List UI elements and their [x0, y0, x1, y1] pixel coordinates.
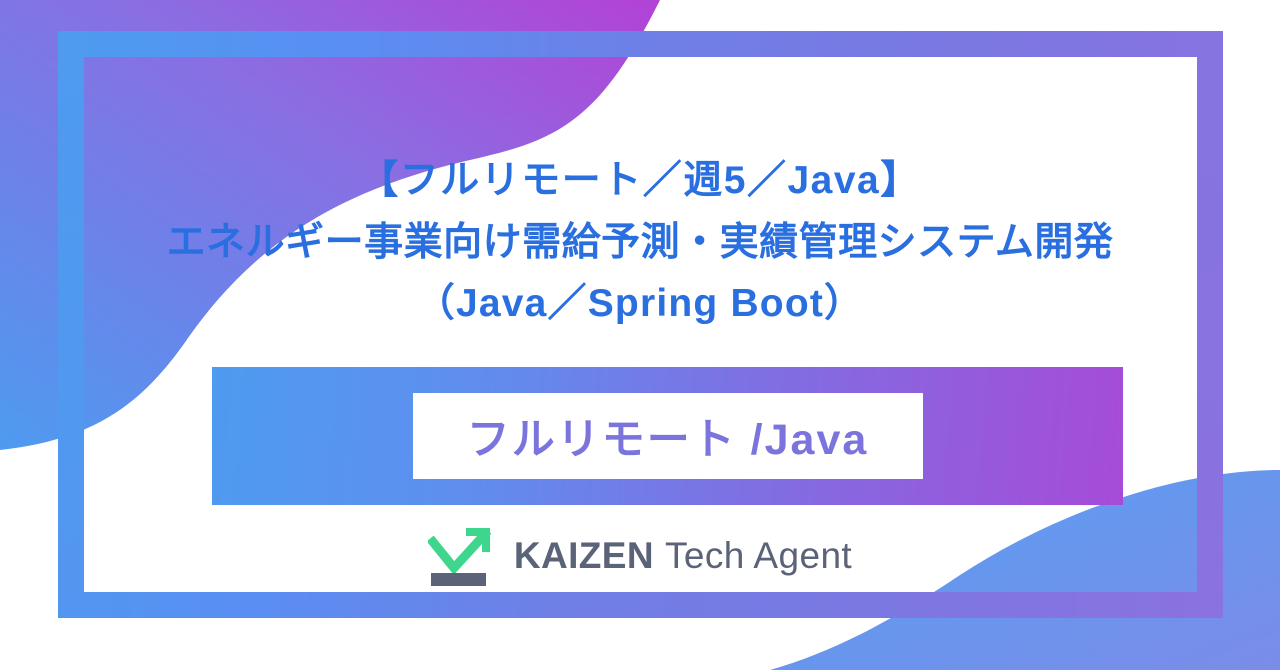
- badge-inner-panel: フルリモート /Java: [413, 393, 923, 479]
- headline-line-2: エネルギー事業向け需給予測・実績管理システム開発: [110, 212, 1170, 274]
- brand-name: KAIZEN Tech Agent: [514, 537, 852, 574]
- headline-line-3: （Java／Spring Boot）: [110, 273, 1170, 335]
- brand-lockup: KAIZEN Tech Agent: [0, 522, 1280, 588]
- page-title: 【フルリモート／週5／Java】 エネルギー事業向け需給予測・実績管理システム開…: [110, 150, 1170, 335]
- headline-line-1: 【フルリモート／週5／Java】: [110, 150, 1170, 212]
- brand-name-bold: KAIZEN: [514, 537, 654, 574]
- growth-arrow-icon: [428, 522, 500, 588]
- brand-name-regular: Tech Agent: [665, 537, 852, 574]
- job-banner: 【フルリモート／週5／Java】 エネルギー事業向け需給予測・実績管理システム開…: [0, 0, 1280, 670]
- badge-label: フルリモート /Java: [467, 405, 869, 467]
- status-badge: フルリモート /Java: [212, 367, 1123, 505]
